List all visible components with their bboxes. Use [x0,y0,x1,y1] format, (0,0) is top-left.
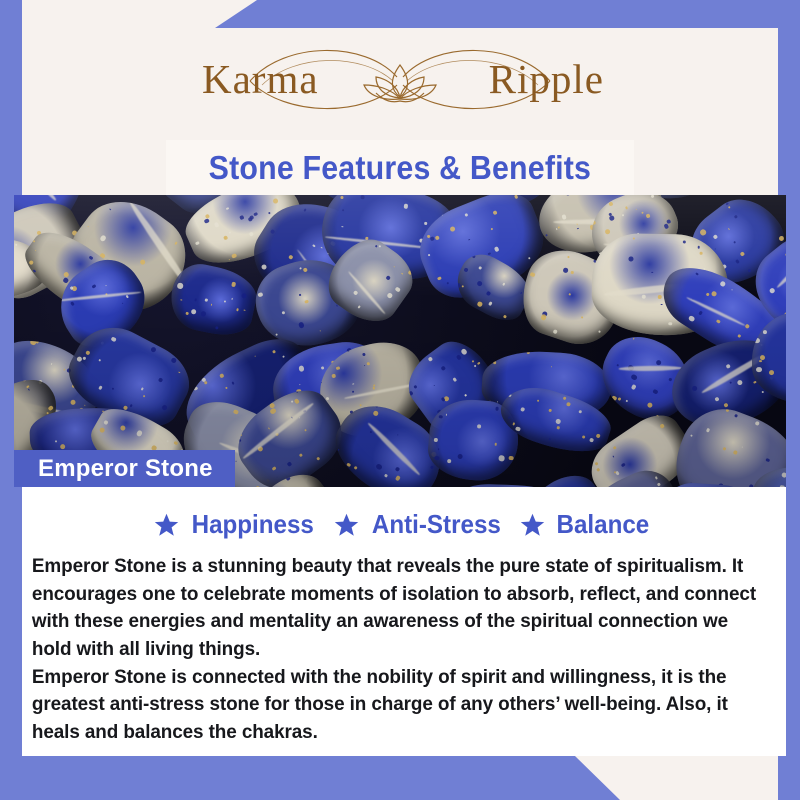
star-icon [153,512,180,538]
description-text: Emperor Stone is a stunning beauty that … [26,553,769,746]
frame-accent-top [215,0,800,28]
page-title-band: Stone Features & Benefits [166,140,634,195]
benefit-label: Happiness [192,509,314,540]
star-icon [519,512,546,538]
stone-name-banner: Emperor Stone [14,450,235,487]
description-paragraph: Emperor Stone is connected with the nobi… [32,664,769,747]
benefit-item: Happiness [153,509,319,540]
star-icon [333,512,360,538]
page-title: Stone Features & Benefits [209,149,592,187]
description-card: Happiness Anti-Stress Balance Emperor S [22,487,786,756]
brand-logo: Karma Ripple [0,26,800,134]
stone-name-label: Emperor Stone [38,455,213,483]
brand-name-left: Karma [202,55,319,103]
benefit-item: Anti-Stress [333,509,506,540]
benefits-list: Happiness Anti-Stress Balance [26,509,780,540]
brand-name-right: Ripple [489,55,604,103]
benefit-label: Balance [557,509,650,540]
frame-accent-bottom [0,756,620,800]
description-paragraph: Emperor Stone is a stunning beauty that … [32,553,769,664]
lotus-flower-icon [364,65,436,102]
benefit-item: Balance [519,509,653,540]
benefit-label: Anti-Stress [371,509,500,540]
poster-root: Karma Ripple Stone Features & Benefits E… [0,0,800,800]
stone-photo [14,195,786,487]
